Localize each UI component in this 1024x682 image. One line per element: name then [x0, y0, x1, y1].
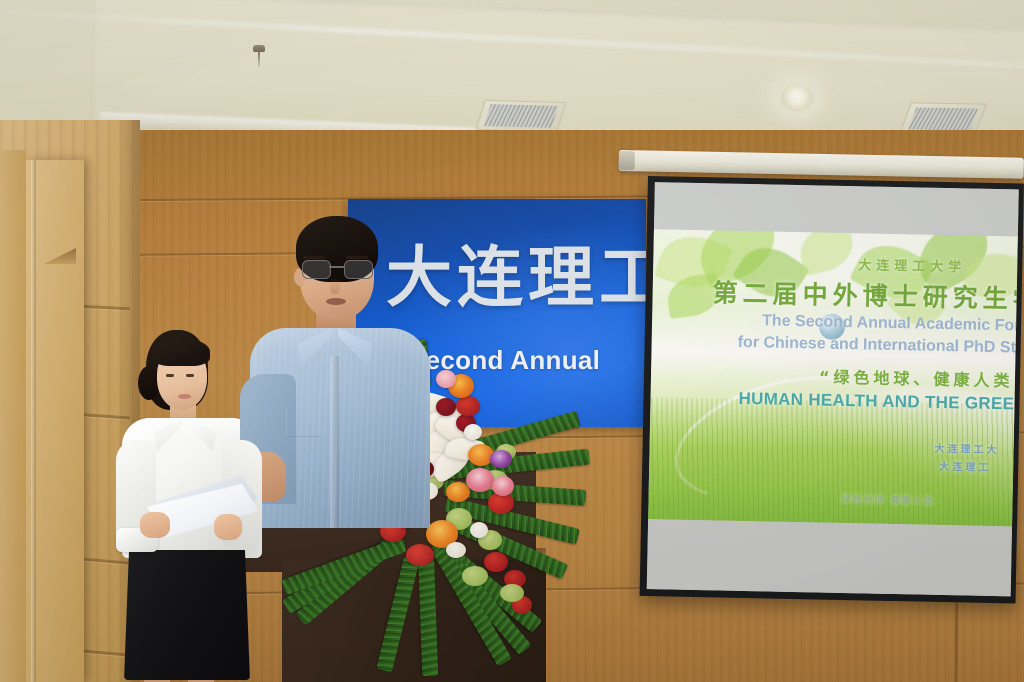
slide-event-title-cn: 第二届中外博士研究生学 — [712, 273, 1018, 316]
eye — [186, 374, 194, 377]
eyebrow — [346, 256, 368, 259]
projection-screen-surface: 大连理工大学 第二届中外博士研究生学 The Second Annual Aca… — [647, 182, 1019, 596]
hand — [140, 512, 170, 538]
eye — [166, 374, 174, 377]
air-vent-icon — [476, 100, 567, 132]
slide-top-band — [654, 182, 1019, 236]
mouth — [178, 394, 191, 399]
screen-housing-endcap — [619, 151, 635, 170]
slide-theme-cn: “绿色地球、健康人类” — [819, 363, 1019, 391]
speaker-at-podium — [242, 216, 432, 516]
slide-signature-line2: 大连理工 — [939, 458, 991, 474]
shirt-pocket — [286, 408, 321, 437]
eyebrow — [303, 256, 325, 259]
slide-university-name: 大连理工大学 — [858, 254, 966, 275]
hair-fringe — [152, 338, 210, 366]
recessed-downlight-icon — [780, 85, 814, 111]
slide-signature-line3: 绿色地球 健康人类 — [841, 492, 934, 507]
mouth — [326, 298, 346, 305]
slide-bottom-band — [647, 519, 1012, 596]
wall-column-edge — [0, 150, 26, 682]
eyeglasses-icon — [300, 260, 374, 277]
shirt-placket — [330, 356, 339, 528]
wall-column-groove — [31, 160, 36, 682]
projection-screen: 大连理工大学 第二届中外博士研究生学 The Second Annual Aca… — [640, 176, 1024, 603]
conference-hall-photo: 大连理工大 Second Annual — [0, 0, 1024, 682]
fire-sprinkler-icon — [253, 45, 265, 55]
nose — [330, 278, 340, 294]
hand — [214, 514, 242, 540]
black-skirt — [124, 550, 250, 680]
slide-signature-line1: 大连理工大 — [934, 440, 999, 456]
